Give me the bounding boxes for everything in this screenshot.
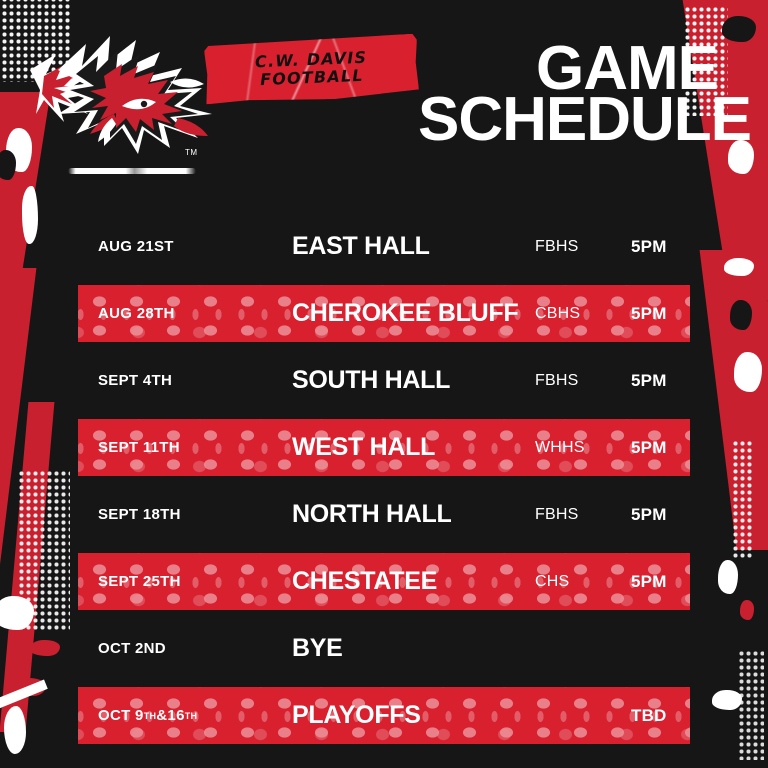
row-cells: OCT 2NDBYE (0, 615, 768, 682)
venue-code: FBHS (535, 213, 578, 280)
game-date: AUG 21ST (98, 213, 174, 280)
venue-code: FBHS (535, 347, 578, 414)
opponent-name: SOUTH HALL (292, 347, 450, 414)
opponent-name: NORTH HALL (292, 481, 451, 548)
venue-code: CBHS (535, 280, 580, 347)
page-title: GAME SCHEDULE (418, 44, 718, 146)
game-time: 5PM (631, 213, 667, 280)
game-time: 5PM (631, 548, 667, 615)
game-time: 5PM (631, 280, 667, 347)
row-cells: SEPT 4THSOUTH HALLFBHS5PM (0, 347, 768, 414)
opponent-name: PLAYOFFS (292, 682, 421, 749)
title-line-schedule: SCHEDULE (418, 95, 718, 146)
logo-underline-stroke (68, 168, 196, 174)
row-cells: SEPT 18THNORTH HALLFBHS5PM (0, 481, 768, 548)
trademark-symbol: TM (185, 148, 198, 157)
game-date: OCT 9TH&16TH (98, 682, 197, 749)
row-cells: AUG 28THCHEROKEE BLUFFCBHS5PM (0, 280, 768, 347)
row-cells: OCT 9TH&16THPLAYOFFSTBD (0, 682, 768, 749)
opponent-name: BYE (292, 615, 343, 682)
row-cells: SEPT 11THWEST HALLWHHS5PM (0, 414, 768, 481)
schedule-row: SEPT 18THNORTH HALLFBHS5PM (0, 481, 768, 548)
game-date: SEPT 25TH (98, 548, 181, 615)
row-cells: AUG 21STEAST HALLFBHS5PM (0, 213, 768, 280)
game-schedule-poster: TM C.W. DAVIS FOOTBALL GAME SCHEDULE AUG… (0, 0, 768, 768)
tape-line-2: FOOTBALL (260, 67, 364, 88)
paint-splatter (6, 128, 32, 172)
paint-splatter (722, 16, 756, 42)
opponent-name: EAST HALL (292, 213, 430, 280)
game-time: TBD (631, 682, 667, 749)
game-date: AUG 28TH (98, 280, 175, 347)
paint-splatter (0, 150, 16, 180)
schedule-row: AUG 28THCHEROKEE BLUFFCBHS5PM (0, 280, 768, 347)
schedule-row: SEPT 11THWEST HALLWHHS5PM (0, 414, 768, 481)
venue-code: FBHS (535, 481, 578, 548)
game-date: SEPT 11TH (98, 414, 180, 481)
row-cells: SEPT 25THCHESTATEECHS5PM (0, 548, 768, 615)
game-date: SEPT 4TH (98, 347, 172, 414)
schedule-list: AUG 21STEAST HALLFBHS5PMAUG 28THCHEROKEE… (0, 213, 768, 749)
game-time: 5PM (631, 481, 667, 548)
game-date: OCT 2ND (98, 615, 166, 682)
game-time: 5PM (631, 347, 667, 414)
opponent-name: WEST HALL (292, 414, 435, 481)
schedule-row: OCT 2NDBYE (0, 615, 768, 682)
game-date: SEPT 18TH (98, 481, 181, 548)
venue-code: WHHS (535, 414, 585, 481)
schedule-row: SEPT 25THCHESTATEECHS5PM (0, 548, 768, 615)
game-time: 5PM (631, 414, 667, 481)
schedule-row: SEPT 4THSOUTH HALLFBHS5PM (0, 347, 768, 414)
schedule-row: AUG 21STEAST HALLFBHS5PM (0, 213, 768, 280)
schedule-row: OCT 9TH&16THPLAYOFFSTBD (0, 682, 768, 749)
venue-code: CHS (535, 548, 569, 615)
opponent-name: CHEROKEE BLUFF (292, 280, 518, 347)
opponent-name: CHESTATEE (292, 548, 437, 615)
